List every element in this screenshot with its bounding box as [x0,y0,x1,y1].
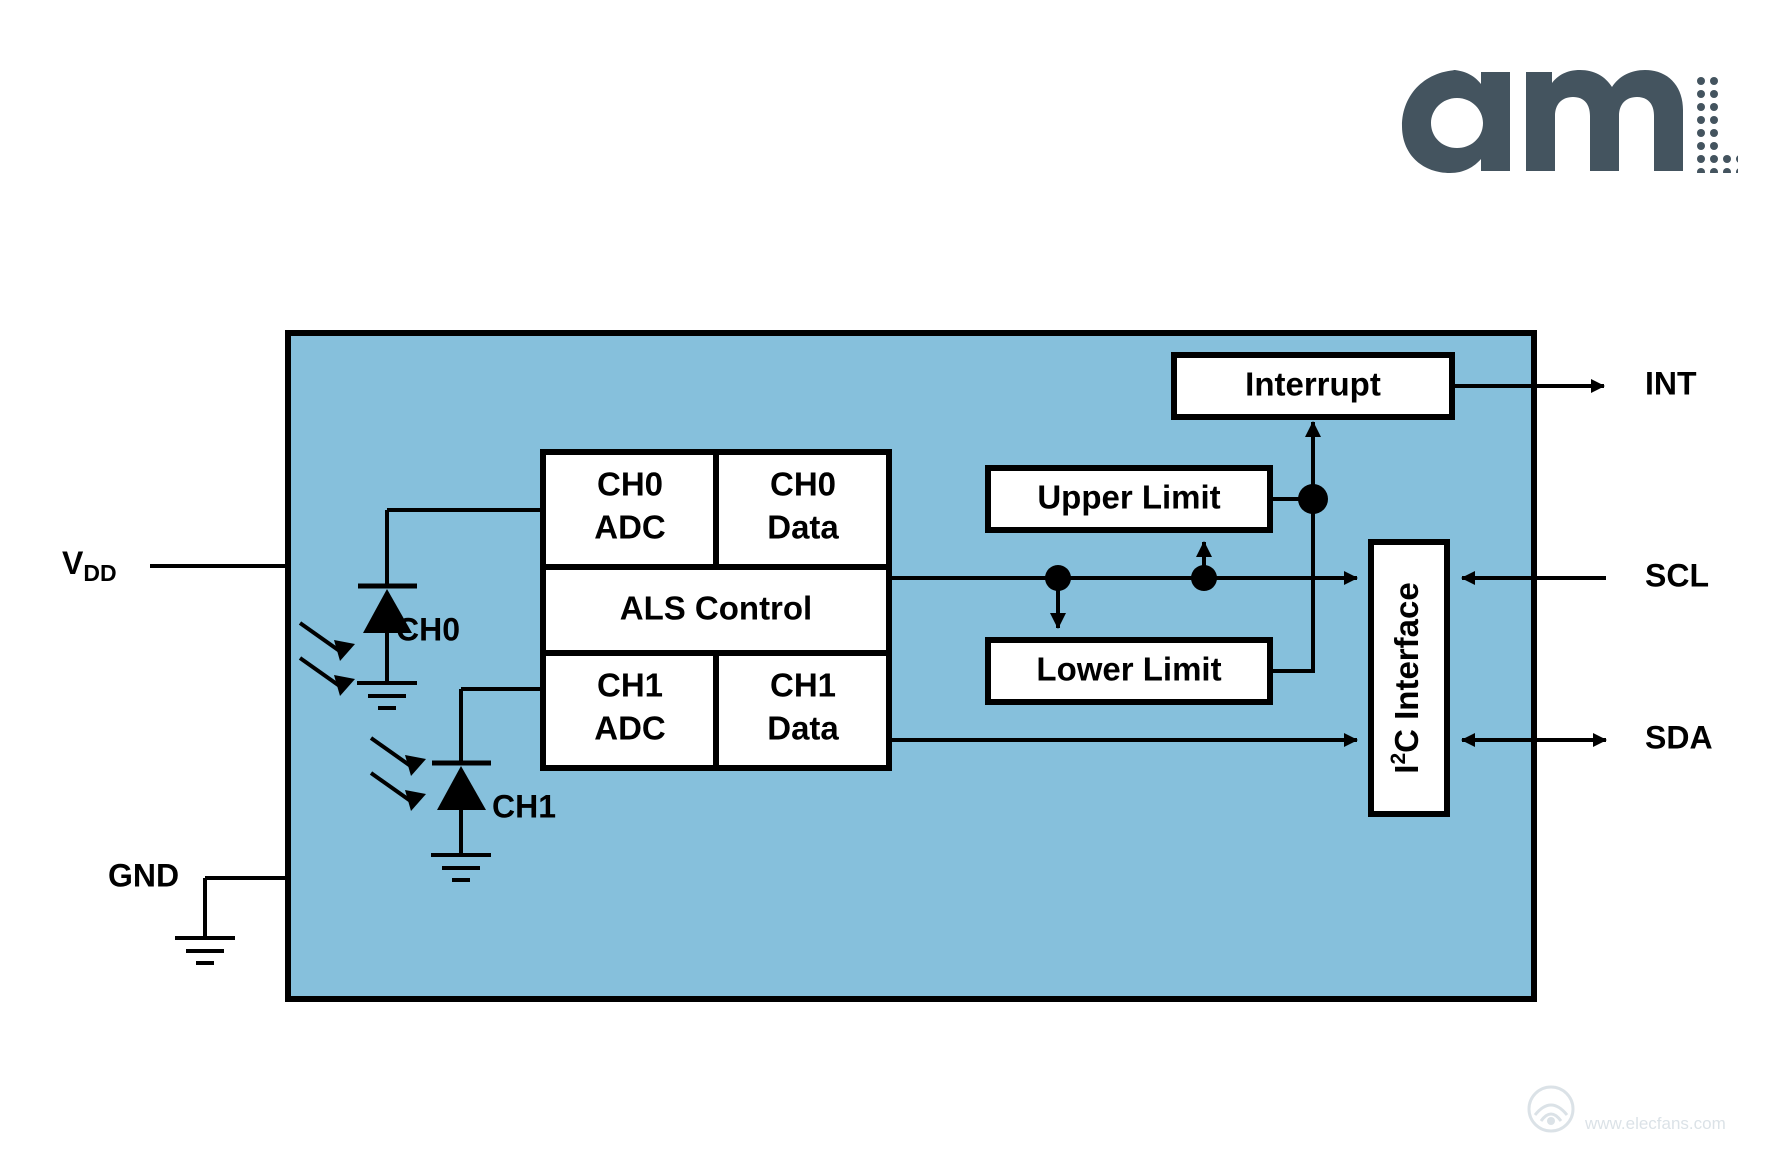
block-lower-limit-label: Lower Limit [1036,651,1221,688]
pin-label-vdd: VDD [62,545,117,586]
pin-label-sda: SDA [1645,719,1713,755]
block-als-control-label: ALS Control [620,590,812,627]
gnd-ground-symbol [175,938,235,963]
block-ch1-adc-label-line2: ADC [594,710,666,747]
watermark-text: www.elecfans.com [1584,1114,1726,1133]
block-ch1-adc-label-line1: CH1 [597,667,663,704]
junction-dot-upper [1191,565,1217,591]
junction-dot-lower [1045,565,1071,591]
block-ch0-data-label-line2: Data [767,509,839,546]
pin-label-gnd: GND [108,857,179,893]
sensor-die-boundary [288,333,1534,999]
block-ch1-data-label-line1: CH1 [770,667,836,704]
watermark: www.elecfans.com [1515,1077,1765,1147]
block-diagram: VDD GND [0,0,1779,1157]
block-ch0-adc-label-line2: ADC [594,509,666,546]
block-ch0-adc-label-line1: CH0 [597,466,663,503]
block-i2c-interface-label: I2C Interface [1387,582,1425,773]
block-upper-limit-label: Upper Limit [1037,479,1220,516]
block-ch1-data-label-line2: Data [767,710,839,747]
pin-label-int: INT [1645,365,1697,401]
block-ch0-data-label-line1: CH0 [770,466,836,503]
photodiode-label-ch1: CH1 [492,788,556,824]
diagram-canvas: VDD GND [0,0,1779,1157]
pin-label-scl: SCL [1645,557,1709,593]
photodiode-label-ch0: CH0 [396,611,460,647]
block-interrupt-label: Interrupt [1245,366,1381,403]
